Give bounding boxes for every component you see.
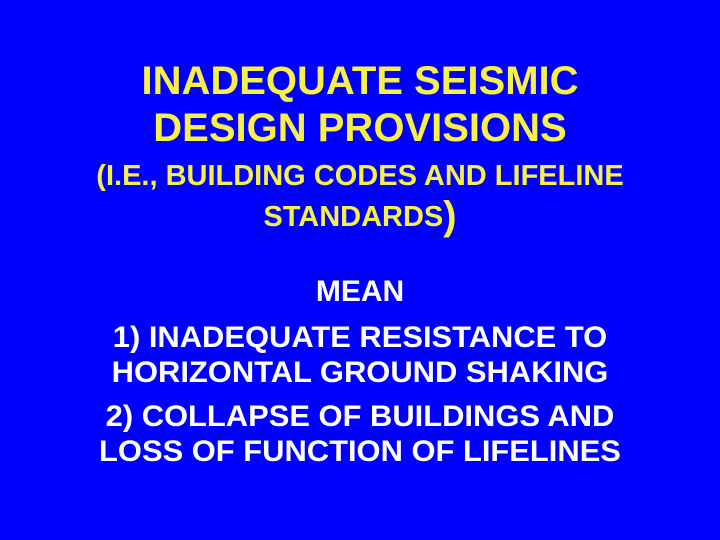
slide-body: MEAN 1) INADEQUATE RESISTANCE TO HORIZON… [0, 274, 720, 469]
body-item-2-line-1: 2) COLLAPSE OF BUILDINGS AND [0, 399, 720, 434]
subtitle-closing-paren: ) [443, 194, 456, 238]
body-item-1-line-2: HORIZONTAL GROUND SHAKING [0, 355, 720, 390]
subtitle-line-2: STANDARDS) [0, 196, 720, 237]
slide-title: INADEQUATE SEISMIC DESIGN PROVISIONS [0, 58, 720, 152]
body-item-2-line-2: LOSS OF FUNCTION OF LIFELINES [0, 434, 720, 469]
title-line-1: INADEQUATE SEISMIC [0, 58, 720, 105]
body-heading: MEAN [0, 274, 720, 309]
body-item-1-line-1: 1) INADEQUATE RESISTANCE TO [0, 320, 720, 355]
spacer [0, 309, 720, 320]
subtitle-line-2-text: STANDARDS [263, 201, 443, 233]
subtitle-line-1: (I.E., BUILDING CODES AND LIFELINE [0, 156, 720, 196]
slide-subtitle: (I.E., BUILDING CODES AND LIFELINE STAND… [0, 156, 720, 237]
title-line-2: DESIGN PROVISIONS [0, 105, 720, 152]
presentation-slide: INADEQUATE SEISMIC DESIGN PROVISIONS (I.… [0, 0, 720, 540]
spacer [0, 390, 720, 399]
